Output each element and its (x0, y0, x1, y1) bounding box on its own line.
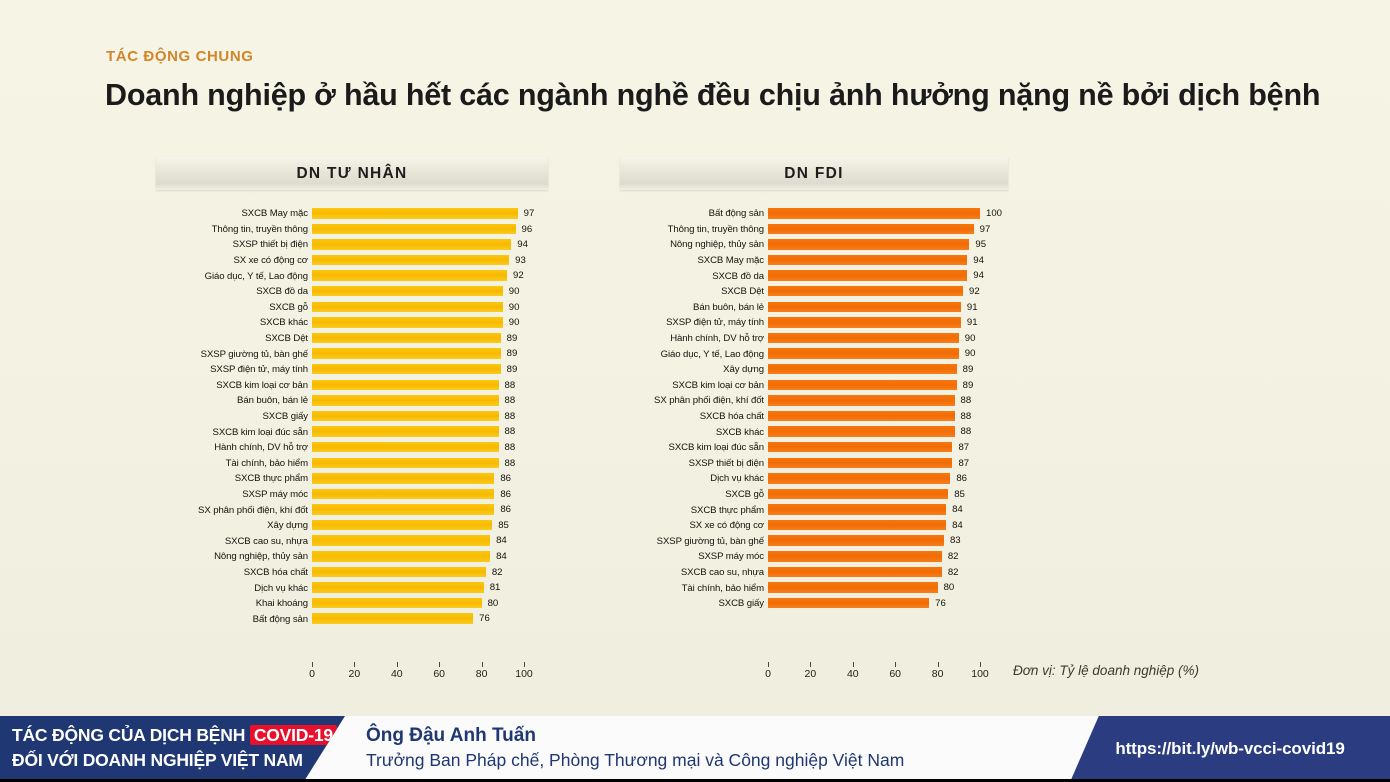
category-label: Bán buôn, bán lẻ (612, 302, 768, 313)
bar-track: 91 (768, 300, 1003, 316)
bar-private (312, 380, 499, 391)
bar-value-label: 76 (935, 596, 946, 612)
chart-row: Dịch vụ khác81 (156, 580, 556, 596)
bar-track: 94 (768, 268, 1003, 284)
bar-value-label: 89 (507, 331, 518, 347)
chart-row: SXCB Dệt92 (612, 284, 1012, 300)
bar-value-label: 85 (954, 487, 965, 503)
bar-chart-private: SXCB May mặc97Thông tin, truyền thông96S… (156, 206, 556, 627)
bar-fdi (768, 239, 969, 250)
category-label: SXCB đồ da (156, 286, 312, 297)
bar-value-label: 88 (961, 409, 972, 425)
bar-private (312, 442, 499, 453)
chart-row: SX phân phối điện, khí đốt86 (156, 502, 556, 518)
category-label: SX phân phối điện, khí đốt (156, 505, 312, 516)
axis-tick-label: 80 (476, 668, 488, 680)
bar-value-label: 80 (944, 580, 955, 596)
axis-tick (312, 662, 313, 667)
chart-row: SXCB May mặc97 (156, 206, 556, 222)
bar-private (312, 504, 494, 515)
bar-track: 88 (312, 424, 547, 440)
axis-tick (524, 662, 525, 667)
chart-row: SXCB khác90 (156, 315, 556, 331)
category-label: Dịch vụ khác (612, 473, 768, 484)
bar-track: 89 (768, 362, 1003, 378)
chart-row: SXSP giường tủ, bàn ghế89 (156, 346, 556, 362)
bar-track: 88 (312, 393, 547, 409)
bar-fdi (768, 442, 952, 453)
chart-row: SXCB kim loại đúc sẵn87 (612, 440, 1012, 456)
bar-track: 89 (312, 346, 547, 362)
axis-tick-label: 60 (889, 668, 901, 680)
bar-fdi (768, 473, 950, 484)
bar-track: 84 (768, 502, 1003, 518)
bar-private (312, 333, 501, 344)
speaker-name: Ông Đậu Anh Tuấn (366, 724, 904, 748)
bar-private (312, 208, 518, 219)
bar-fdi (768, 333, 959, 344)
chart-row: SXCB gỗ85 (612, 487, 1012, 503)
bar-track: 88 (312, 378, 547, 394)
bar-fdi (768, 489, 948, 500)
chart-row: SXCB gỗ90 (156, 300, 556, 316)
bar-value-label: 82 (492, 565, 503, 581)
chart-row: SXCB đồ da90 (156, 284, 556, 300)
category-label: SXSP giường tủ, bàn ghế (156, 349, 312, 360)
category-label: SXCB May mặc (156, 208, 312, 219)
bar-track: 82 (312, 565, 547, 581)
category-label: SXSP máy móc (156, 489, 312, 500)
chart-row: Hành chính, DV hỗ trợ90 (612, 331, 1012, 347)
chart-row: SX xe có động cơ84 (612, 518, 1012, 534)
chart-row: Tài chính, bảo hiểm80 (612, 580, 1012, 596)
axis-tick (980, 662, 981, 667)
axis-tick-label: 40 (391, 668, 403, 680)
bar-track: 88 (312, 409, 547, 425)
bar-value-label: 82 (948, 549, 959, 565)
bar-value-label: 97 (980, 222, 991, 238)
bar-value-label: 85 (498, 518, 509, 534)
bar-track: 97 (768, 222, 1003, 238)
panel-header-fdi: DN FDI (620, 157, 1008, 190)
category-label: SXCB khác (612, 427, 768, 438)
bar-track: 82 (768, 549, 1003, 565)
footer-title-line-2: ĐỐI VỚI DOANH NGHIỆP VIỆT NAM (12, 748, 345, 773)
bar-track: 81 (312, 580, 547, 596)
bar-track: 83 (768, 533, 1003, 549)
bar-track: 100 (768, 206, 1003, 222)
category-label: SXCB Dệt (612, 286, 768, 297)
bar-private (312, 598, 482, 609)
bar-value-label: 94 (973, 268, 984, 284)
category-label: Tài chính, bảo hiểm (156, 458, 312, 469)
bar-value-label: 84 (952, 502, 963, 518)
axis-tick (853, 662, 854, 667)
axis-tick-label: 40 (847, 668, 859, 680)
category-label: SXSP thiết bị điện (156, 239, 312, 250)
category-label: SXSP giường tủ, bàn ghế (612, 536, 768, 547)
category-label: SX xe có động cơ (612, 520, 768, 531)
chart-row: SXCB kim loại cơ bản89 (612, 378, 1012, 394)
bar-fdi (768, 535, 944, 546)
category-label: SXCB thực phẩm (156, 473, 312, 484)
bar-private (312, 582, 484, 593)
chart-row: Thông tin, truyền thông97 (612, 222, 1012, 238)
category-label: Khai khoáng (156, 598, 312, 609)
chart-row: SXSP máy móc82 (612, 549, 1012, 565)
bar-track: 88 (312, 440, 547, 456)
unit-note: Đơn vị: Tỷ lệ doanh nghiệp (%) (1013, 663, 1199, 678)
bar-track: 90 (312, 284, 547, 300)
slide-canvas: TÁC ĐỘNG CHUNG Doanh nghiệp ở hầu hết cá… (0, 0, 1390, 782)
chart-row: Nông nghiệp, thủy sản84 (156, 549, 556, 565)
bar-private (312, 489, 494, 500)
bar-value-label: 89 (963, 362, 974, 378)
axis-tick (482, 662, 483, 667)
category-label: Nông nghiệp, thủy sản (612, 239, 768, 250)
bar-track: 88 (768, 424, 1003, 440)
bar-value-label: 92 (513, 268, 524, 284)
category-label: SXCB thực phẩm (612, 505, 768, 516)
bar-fdi (768, 380, 957, 391)
category-label: SXCB hóa chất (156, 567, 312, 578)
chart-row: Giáo dục, Y tế, Lao động92 (156, 268, 556, 284)
category-label: Bất động sản (612, 208, 768, 219)
chart-row: Tài chính, bảo hiểm88 (156, 456, 556, 472)
chart-row: SXCB hóa chất88 (612, 409, 1012, 425)
bar-track: 84 (768, 518, 1003, 534)
bar-track: 94 (312, 237, 547, 253)
bar-value-label: 92 (969, 284, 980, 300)
chart-row: SXCB thực phẩm86 (156, 471, 556, 487)
bar-chart-fdi: Bất động sản100Thông tin, truyền thông97… (612, 206, 1012, 611)
bar-track: 93 (312, 253, 547, 269)
chart-row: Bán buôn, bán lẻ88 (156, 393, 556, 409)
bar-value-label: 90 (509, 300, 520, 316)
chart-row: SXCB giấy88 (156, 409, 556, 425)
covid-badge: COVID-19 (250, 725, 337, 745)
chart-row: Thông tin, truyền thông96 (156, 222, 556, 238)
chart-row: SXSP điện tử, máy tính89 (156, 362, 556, 378)
axis-tick (768, 662, 769, 667)
bar-fdi (768, 255, 967, 266)
bar-track: 96 (312, 222, 547, 238)
chart-row: Hành chính, DV hỗ trợ88 (156, 440, 556, 456)
bar-track: 94 (768, 253, 1003, 269)
bar-value-label: 90 (509, 315, 520, 331)
category-label: SXCB kim loại đúc sẵn (156, 427, 312, 438)
category-label: Hành chính, DV hỗ trợ (612, 333, 768, 344)
bar-private (312, 255, 509, 266)
axis-tick (810, 662, 811, 667)
bar-track: 91 (768, 315, 1003, 331)
footer-link-text[interactable]: https://bit.ly/wb-vcci-covid19 (1115, 739, 1344, 759)
chart-row: SXCB cao su, nhựa84 (156, 533, 556, 549)
bar-track: 88 (768, 409, 1003, 425)
panel-title-fdi: DN FDI (784, 165, 843, 183)
bar-track: 86 (312, 487, 547, 503)
footer-link-banner[interactable]: https://bit.ly/wb-vcci-covid19 (1070, 716, 1390, 782)
bar-fdi (768, 504, 946, 515)
category-label: SXCB giấy (156, 411, 312, 422)
chart-row: SXSP máy móc86 (156, 487, 556, 503)
category-label: SXSP điện tử, máy tính (156, 364, 312, 375)
bar-value-label: 96 (522, 222, 533, 238)
category-label: SXCB giấy (612, 598, 768, 609)
bar-fdi (768, 567, 942, 578)
bar-private (312, 613, 473, 624)
chart-row: SXCB May mặc94 (612, 253, 1012, 269)
bar-fdi (768, 286, 963, 297)
bar-fdi (768, 582, 938, 593)
chart-row: SXSP giường tủ, bàn ghế83 (612, 533, 1012, 549)
chart-row: SXCB cao su, nhựa82 (612, 565, 1012, 581)
bar-private (312, 239, 511, 250)
bar-track: 87 (768, 440, 1003, 456)
bar-value-label: 88 (505, 378, 516, 394)
bar-fdi (768, 598, 929, 609)
footer-title-line-1: TÁC ĐỘNG CỦA DỊCH BỆNH COVID-19 (12, 723, 345, 748)
category-label: SX phân phối điện, khí đốt (612, 395, 768, 406)
axis-tick (397, 662, 398, 667)
bar-value-label: 84 (496, 549, 507, 565)
axis-tick (354, 662, 355, 667)
bar-track: 92 (768, 284, 1003, 300)
bar-private (312, 395, 499, 406)
category-label: SXCB cao su, nhựa (156, 536, 312, 547)
chart-row: SXCB Dệt89 (156, 331, 556, 347)
category-label: Dịch vụ khác (156, 583, 312, 594)
bar-track: 95 (768, 237, 1003, 253)
bar-value-label: 90 (965, 346, 976, 362)
speaker-role: Trưởng Ban Pháp chế, Phòng Thương mại và… (366, 748, 904, 773)
bar-private (312, 411, 499, 422)
bar-track: 86 (768, 471, 1003, 487)
axis-tick-label: 100 (515, 668, 533, 680)
bar-value-label: 94 (517, 237, 528, 253)
bar-fdi (768, 551, 942, 562)
axis-tick (439, 662, 440, 667)
chart-row: Nông nghiệp, thủy sản95 (612, 237, 1012, 253)
bar-track: 82 (768, 565, 1003, 581)
chart-row: SXSP điện tử, máy tính91 (612, 315, 1012, 331)
category-label: SXCB hóa chất (612, 411, 768, 422)
bar-value-label: 97 (524, 206, 535, 222)
bar-fdi (768, 317, 961, 328)
category-label: SXSP điện tử, máy tính (612, 317, 768, 328)
chart-row: SXCB đồ da94 (612, 268, 1012, 284)
chart-row: Bất động sản100 (612, 206, 1012, 222)
bar-value-label: 86 (500, 471, 511, 487)
bar-track: 90 (312, 300, 547, 316)
bar-value-label: 90 (509, 284, 520, 300)
bar-track: 76 (768, 596, 1003, 612)
bar-value-label: 80 (488, 596, 499, 612)
category-label: Thông tin, truyền thông (612, 224, 768, 235)
category-label: Xây dựng (156, 520, 312, 531)
category-label: SXCB kim loại đúc sẵn (612, 442, 768, 453)
bar-value-label: 88 (505, 424, 516, 440)
bar-track: 86 (312, 471, 547, 487)
panel-title-private: DN TƯ NHÂN (296, 165, 407, 183)
bar-private (312, 551, 490, 562)
bar-value-label: 89 (507, 362, 518, 378)
bar-private (312, 286, 503, 297)
bar-value-label: 86 (956, 471, 967, 487)
bar-value-label: 87 (958, 440, 969, 456)
category-label: SXSP thiết bị điện (612, 458, 768, 469)
bar-private (312, 520, 492, 531)
category-label: SXCB May mặc (612, 255, 768, 266)
axis-tick-label: 0 (765, 668, 771, 680)
bar-value-label: 81 (490, 580, 501, 596)
category-label: SXCB khác (156, 317, 312, 328)
bar-track: 89 (312, 331, 547, 347)
bar-fdi (768, 411, 955, 422)
x-axis-private: 020406080100 (156, 662, 556, 692)
bar-track: 85 (768, 487, 1003, 503)
bar-value-label: 86 (500, 502, 511, 518)
bar-track: 89 (312, 362, 547, 378)
category-label: SXCB đồ da (612, 271, 768, 282)
x-axis-fdi: 020406080100 (612, 662, 1012, 692)
footer-program-title: TÁC ĐỘNG CỦA DỊCH BỆNH COVID-19 ĐỐI VỚI … (0, 716, 345, 782)
bar-private (312, 302, 503, 313)
chart-row: Khai khoáng80 (156, 596, 556, 612)
category-label: SXCB gỗ (612, 489, 768, 500)
category-label: Thông tin, truyền thông (156, 224, 312, 235)
category-label: SXCB cao su, nhựa (612, 567, 768, 578)
chart-row: SXCB khác88 (612, 424, 1012, 440)
chart-row: Bất động sản76 (156, 611, 556, 627)
bar-fdi (768, 348, 959, 359)
bar-private (312, 567, 486, 578)
chart-row: SXSP thiết bị điện87 (612, 456, 1012, 472)
bar-value-label: 88 (505, 393, 516, 409)
bar-value-label: 100 (986, 206, 1002, 222)
axis-tick (938, 662, 939, 667)
axis-tick-label: 0 (309, 668, 315, 680)
category-label: Hành chính, DV hỗ trợ (156, 442, 312, 453)
bar-value-label: 95 (975, 237, 986, 253)
chart-row: Giáo dục, Y tế, Lao động90 (612, 346, 1012, 362)
bar-value-label: 76 (479, 611, 490, 627)
bar-value-label: 88 (505, 409, 516, 425)
bar-track: 87 (768, 456, 1003, 472)
footer-title-text: TÁC ĐỘNG CỦA DỊCH BỆNH (12, 725, 250, 745)
bar-value-label: 88 (505, 456, 516, 472)
bar-track: 85 (312, 518, 547, 534)
bar-private (312, 270, 507, 281)
bar-track: 84 (312, 549, 547, 565)
bar-track: 86 (312, 502, 547, 518)
category-label: SXCB kim loại cơ bản (156, 380, 312, 391)
bar-track: 97 (312, 206, 547, 222)
axis-tick-label: 80 (932, 668, 944, 680)
bar-track: 90 (312, 315, 547, 331)
category-label: Giáo dục, Y tế, Lao động (612, 349, 768, 360)
chart-row: SX xe có động cơ93 (156, 253, 556, 269)
bar-value-label: 91 (967, 300, 978, 316)
bar-track: 84 (312, 533, 547, 549)
bar-track: 92 (312, 268, 547, 284)
axis-tick (895, 662, 896, 667)
bar-fdi (768, 458, 952, 469)
bar-track: 90 (768, 346, 1003, 362)
chart-row: SXCB kim loại đúc sẵn88 (156, 424, 556, 440)
bar-private (312, 458, 499, 469)
bar-track: 80 (312, 596, 547, 612)
bar-value-label: 86 (500, 487, 511, 503)
bar-value-label: 88 (961, 424, 972, 440)
chart-row: Bán buôn, bán lẻ91 (612, 300, 1012, 316)
bar-track: 88 (768, 393, 1003, 409)
category-label: SX xe có động cơ (156, 255, 312, 266)
bar-private (312, 535, 490, 546)
bar-value-label: 88 (505, 440, 516, 456)
bar-value-label: 88 (961, 393, 972, 409)
bar-track: 76 (312, 611, 547, 627)
bar-fdi (768, 270, 967, 281)
bar-track: 90 (768, 331, 1003, 347)
bar-value-label: 89 (507, 346, 518, 362)
bar-track: 88 (312, 456, 547, 472)
bar-track: 80 (768, 580, 1003, 596)
chart-row: SXCB kim loại cơ bản88 (156, 378, 556, 394)
page-title: Doanh nghiệp ở hầu hết các ngành nghề đề… (105, 78, 1320, 113)
bar-fdi (768, 364, 957, 375)
section-kicker: TÁC ĐỘNG CHUNG (106, 48, 254, 65)
category-label: Bất động sản (156, 614, 312, 625)
chart-row: Dịch vụ khác86 (612, 471, 1012, 487)
bar-fdi (768, 395, 955, 406)
bar-value-label: 82 (948, 565, 959, 581)
bar-private (312, 348, 501, 359)
bar-fdi (768, 224, 974, 235)
footer-bar: TÁC ĐỘNG CỦA DỊCH BỆNH COVID-19 ĐỐI VỚI … (0, 716, 1390, 782)
bar-value-label: 90 (965, 331, 976, 347)
category-label: Bán buôn, bán lẻ (156, 395, 312, 406)
bar-value-label: 83 (950, 533, 961, 549)
bar-track: 89 (768, 378, 1003, 394)
bar-private (312, 317, 503, 328)
category-label: SXCB Dệt (156, 333, 312, 344)
category-label: Giáo dục, Y tế, Lao động (156, 271, 312, 282)
bar-value-label: 89 (963, 378, 974, 394)
bar-value-label: 91 (967, 315, 978, 331)
bar-value-label: 93 (515, 253, 526, 269)
bar-private (312, 364, 501, 375)
category-label: SXCB gỗ (156, 302, 312, 313)
category-label: Xây dựng (612, 364, 768, 375)
bar-fdi (768, 208, 980, 219)
category-label: Nông nghiệp, thủy sản (156, 551, 312, 562)
bar-value-label: 84 (496, 533, 507, 549)
bar-private (312, 224, 516, 235)
bar-fdi (768, 302, 961, 313)
category-label: Tài chính, bảo hiểm (612, 583, 768, 594)
bar-value-label: 87 (958, 456, 969, 472)
bar-value-label: 84 (952, 518, 963, 534)
bar-private (312, 473, 494, 484)
speaker-block: Ông Đậu Anh Tuấn Trưởng Ban Pháp chế, Ph… (366, 716, 904, 782)
category-label: SXSP máy móc (612, 551, 768, 562)
axis-tick-label: 20 (805, 668, 817, 680)
axis-tick-label: 60 (433, 668, 445, 680)
chart-row: SXSP thiết bị điện94 (156, 237, 556, 253)
category-label: SXCB kim loại cơ bản (612, 380, 768, 391)
bar-private (312, 426, 499, 437)
